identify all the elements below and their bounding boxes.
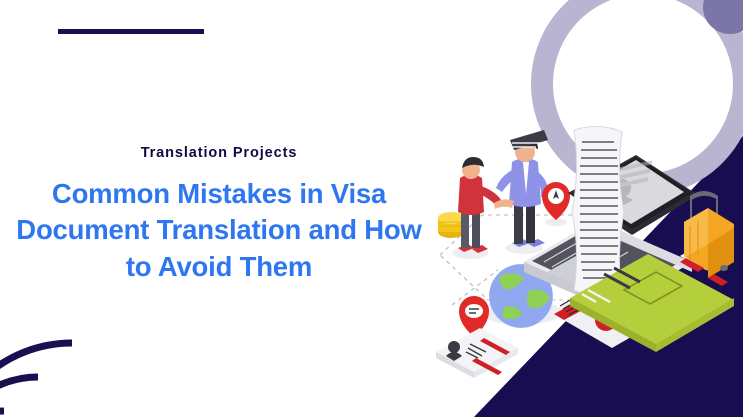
filled-circle <box>703 0 743 34</box>
top-rule-bar <box>58 29 204 34</box>
boarding-pass-icon <box>550 278 674 348</box>
banner-canvas: Translation Projects Common Mistakes in … <box>0 0 743 417</box>
coin-stack-icon <box>438 212 464 238</box>
dashed-path <box>440 215 638 305</box>
ring-outline <box>513 0 743 214</box>
map-pin-icon-upper <box>542 182 570 226</box>
signpost-icon <box>510 130 548 150</box>
page-title: Common Mistakes in Visa Document Transla… <box>10 176 428 285</box>
document-scroll-icon <box>572 126 624 296</box>
laptop-icon <box>524 155 698 314</box>
banner-text-block: Translation Projects Common Mistakes in … <box>10 146 428 285</box>
handshake-person-purple <box>496 138 548 254</box>
id-card-icon <box>436 328 518 378</box>
eyebrow-label: Translation Projects <box>10 146 428 162</box>
globe-icon <box>481 264 561 328</box>
handshake-person-red <box>452 157 501 259</box>
passport-green-icon <box>570 254 734 352</box>
handshake-hands <box>494 199 514 209</box>
concentric-arcs <box>0 285 200 417</box>
visa-illustration <box>428 0 743 417</box>
suitcase-icon <box>680 191 734 278</box>
map-pin-icon-lower <box>459 296 489 345</box>
